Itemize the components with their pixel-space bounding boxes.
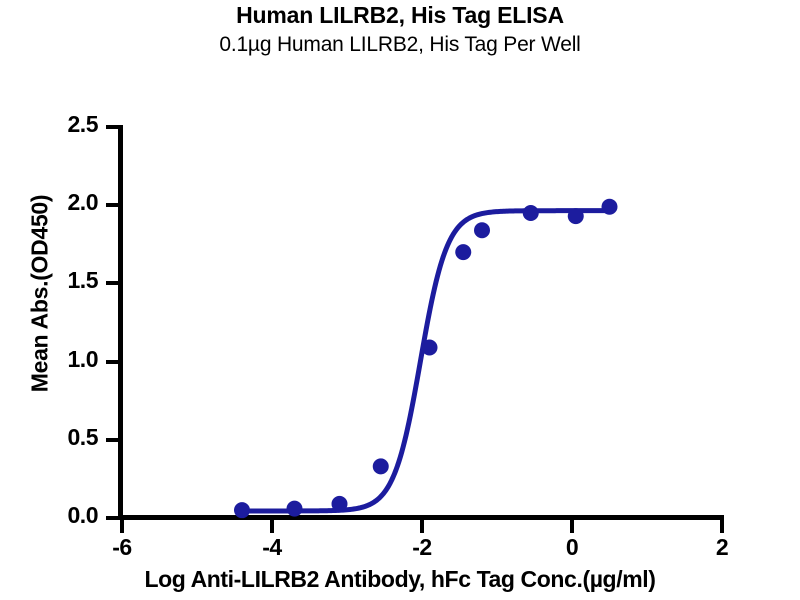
chart-subtitle: 0.1µg Human LILRB2, His Tag Per Well (0, 33, 800, 57)
y-tick-5 (106, 125, 119, 129)
y-tick-label-0: 0.0 (0, 502, 98, 529)
y-tick-1 (106, 438, 119, 442)
x-tick-label-0: -6 (82, 534, 162, 561)
data-point (523, 205, 539, 221)
x-tick-label-4: 2 (682, 534, 762, 561)
y-tick-0 (106, 516, 119, 520)
chart-container: Human LILRB2, His Tag ELISA 0.1µg Human … (0, 0, 800, 600)
x-tick-label-3: 0 (532, 534, 612, 561)
data-point (422, 340, 438, 356)
x-tick-0 (120, 519, 124, 533)
x-tick-label-1: -4 (232, 534, 312, 561)
chart-title: Human LILRB2, His Tag ELISA (0, 2, 800, 29)
data-point (332, 496, 348, 512)
data-point (373, 458, 389, 474)
data-point (568, 208, 584, 224)
x-axis-title: Log Anti-LILRB2 Antibody, hFc Tag Conc.(… (0, 566, 800, 593)
x-tick-3 (570, 519, 574, 533)
y-axis-line (118, 125, 123, 520)
x-tick-1 (270, 519, 274, 533)
x-tick-2 (420, 519, 424, 533)
data-point (602, 199, 618, 215)
y-tick-4 (106, 203, 119, 207)
y-axis-title: Mean Abs.(OD450) (27, 124, 54, 464)
sigmoid-fit-curve (238, 211, 611, 511)
y-tick-2 (106, 360, 119, 364)
y-tick-3 (106, 281, 119, 285)
data-point (474, 222, 490, 238)
x-tick-4 (720, 519, 724, 533)
x-tick-label-2: -2 (382, 534, 462, 561)
data-point (455, 244, 471, 260)
data-points-group (234, 199, 618, 518)
